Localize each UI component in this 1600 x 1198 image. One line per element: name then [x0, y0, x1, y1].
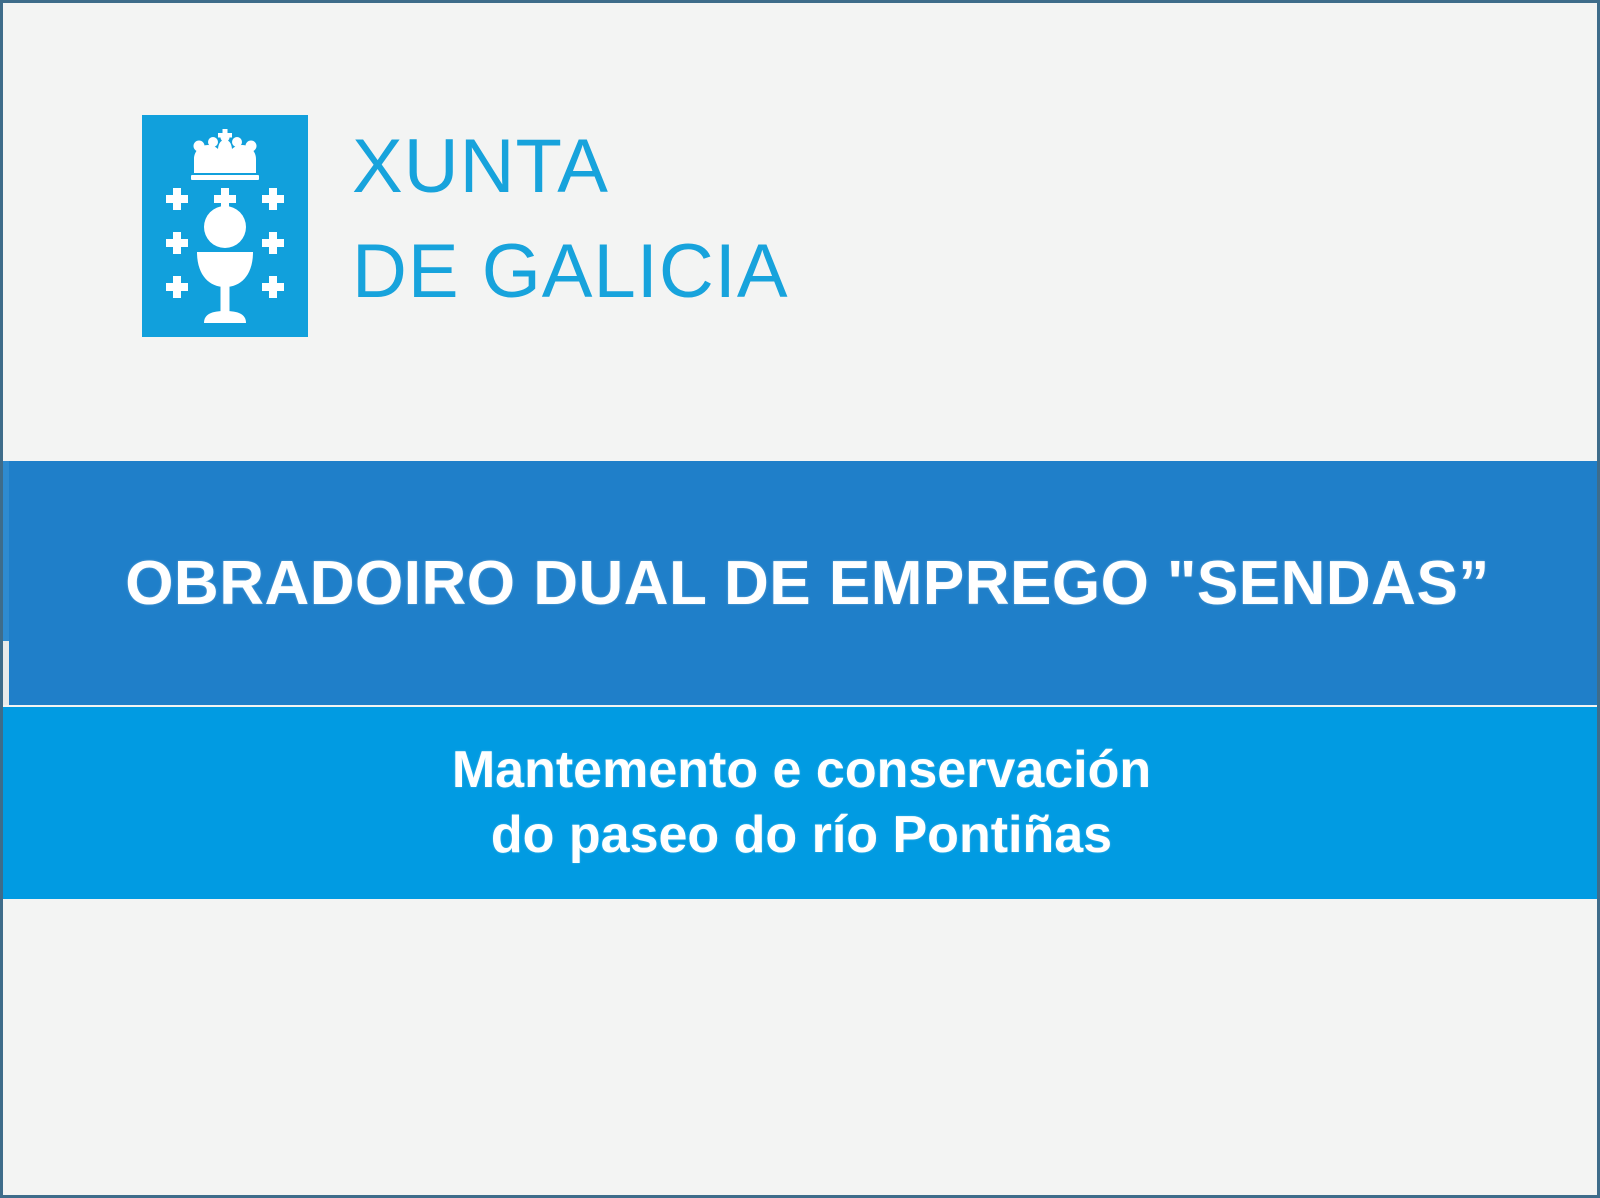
wordmark-line-1: XUNTA: [352, 115, 789, 220]
galicia-coat-of-arms-icon: [142, 115, 308, 337]
subtitle-line-2: do paseo do río Pontiñas: [491, 803, 1112, 868]
xunta-de-galicia-logo: XUNTA DE GALICIA: [142, 115, 789, 337]
poster-slide: XUNTA DE GALICIA OBRADOIRO DUAL DE EMPRE…: [0, 0, 1600, 1198]
chalice-crown-crosses-icon: [142, 115, 308, 337]
footer-logo-strip: ★ ★ ★: [3, 965, 1600, 1195]
wordmark-line-2: DE GALICIA: [352, 220, 789, 325]
page-title: OBRADOIRO DUAL DE EMPREGO "SENDAS”: [3, 461, 1600, 705]
subtitle-line-1: Mantemento e conservación: [452, 738, 1151, 803]
subtitle-block: Mantemento e conservación do paseo do rí…: [3, 707, 1600, 899]
xunta-wordmark: XUNTA DE GALICIA: [352, 115, 789, 325]
